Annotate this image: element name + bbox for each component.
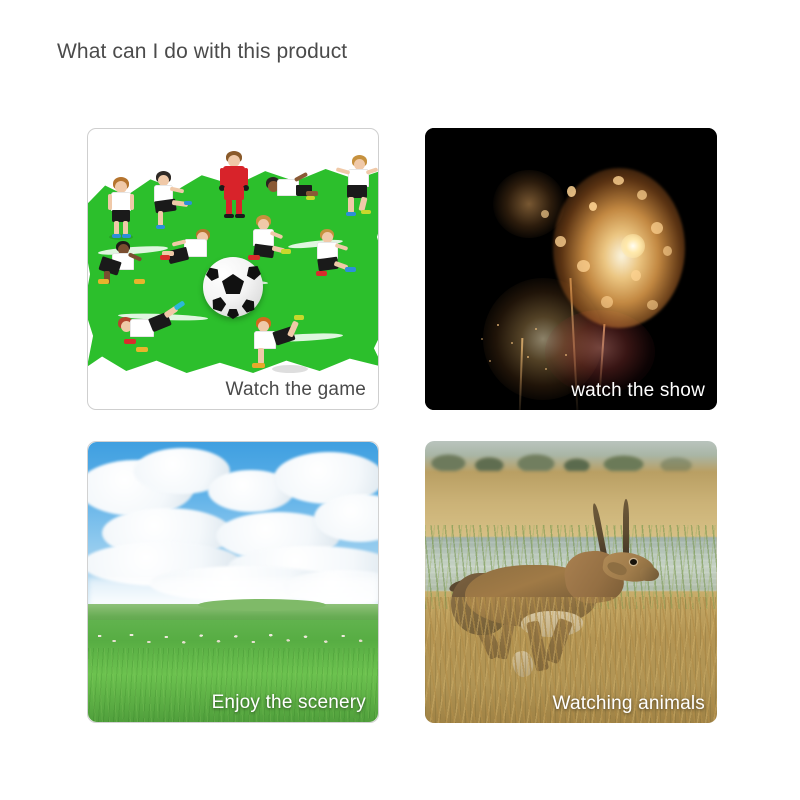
firework-spark	[545, 368, 547, 370]
soccer-player	[150, 171, 190, 229]
soccer-scene-image	[88, 129, 378, 409]
tile-caption-watch-the-show: watch the show	[571, 380, 705, 402]
feature-tile-watching-animals[interactable]: Watching animals	[425, 441, 717, 723]
firework-ember	[541, 210, 549, 218]
antelope-eye	[630, 559, 637, 565]
firework-ember	[589, 202, 597, 211]
soccer-player	[98, 241, 146, 287]
firework-ember	[637, 190, 647, 200]
firework-ember	[647, 300, 658, 310]
firework-spark	[489, 360, 491, 362]
fireworks-scene-image	[425, 128, 717, 410]
firework-ember	[567, 186, 576, 197]
soccer-player	[108, 177, 134, 239]
feature-tile-watch-the-game[interactable]: Watch the game	[87, 128, 379, 410]
antelope-scene-image	[425, 441, 717, 723]
tile-caption-watching-animals: Watching animals	[553, 693, 705, 715]
firework-ember	[631, 270, 641, 281]
firework-spark	[511, 342, 513, 344]
soccer-player	[248, 215, 292, 263]
feature-tile-grid: Watch the game	[87, 128, 717, 723]
firework-spark	[497, 324, 499, 326]
distant-treeline	[425, 445, 717, 471]
soccer-player	[162, 229, 214, 273]
firework-ember	[555, 236, 566, 247]
firework-ember	[577, 260, 590, 272]
soccer-player	[314, 229, 362, 283]
firework-ember	[651, 222, 663, 234]
feature-tile-enjoy-the-scenery[interactable]: Enjoy the scenery	[87, 441, 379, 723]
feature-tile-watch-the-show[interactable]: watch the show	[425, 128, 717, 410]
firework-ember	[613, 176, 624, 185]
firework-ember	[663, 246, 672, 256]
tile-caption-watch-the-game: Watch the game	[226, 379, 366, 401]
product-usage-panel: What can I do with this product	[0, 0, 800, 800]
sheep-flock	[88, 628, 378, 648]
soccer-goalkeeper	[220, 151, 248, 219]
firework-core-highlight	[621, 234, 645, 258]
firework-spark	[535, 328, 537, 330]
page-title: What can I do with this product	[57, 40, 347, 64]
tile-caption-enjoy-the-scenery: Enjoy the scenery	[212, 692, 366, 714]
firework-spark	[527, 356, 529, 358]
soccer-player	[266, 173, 312, 207]
soccer-player	[334, 155, 376, 217]
firework-spark	[565, 354, 567, 356]
grassland-scene-image	[88, 442, 378, 722]
firework-ember	[601, 296, 613, 308]
soccer-player	[250, 317, 320, 375]
soccer-ball	[203, 257, 263, 317]
antelope-muzzle	[640, 567, 659, 581]
soccer-player	[118, 311, 190, 363]
firework-spark	[481, 338, 483, 340]
